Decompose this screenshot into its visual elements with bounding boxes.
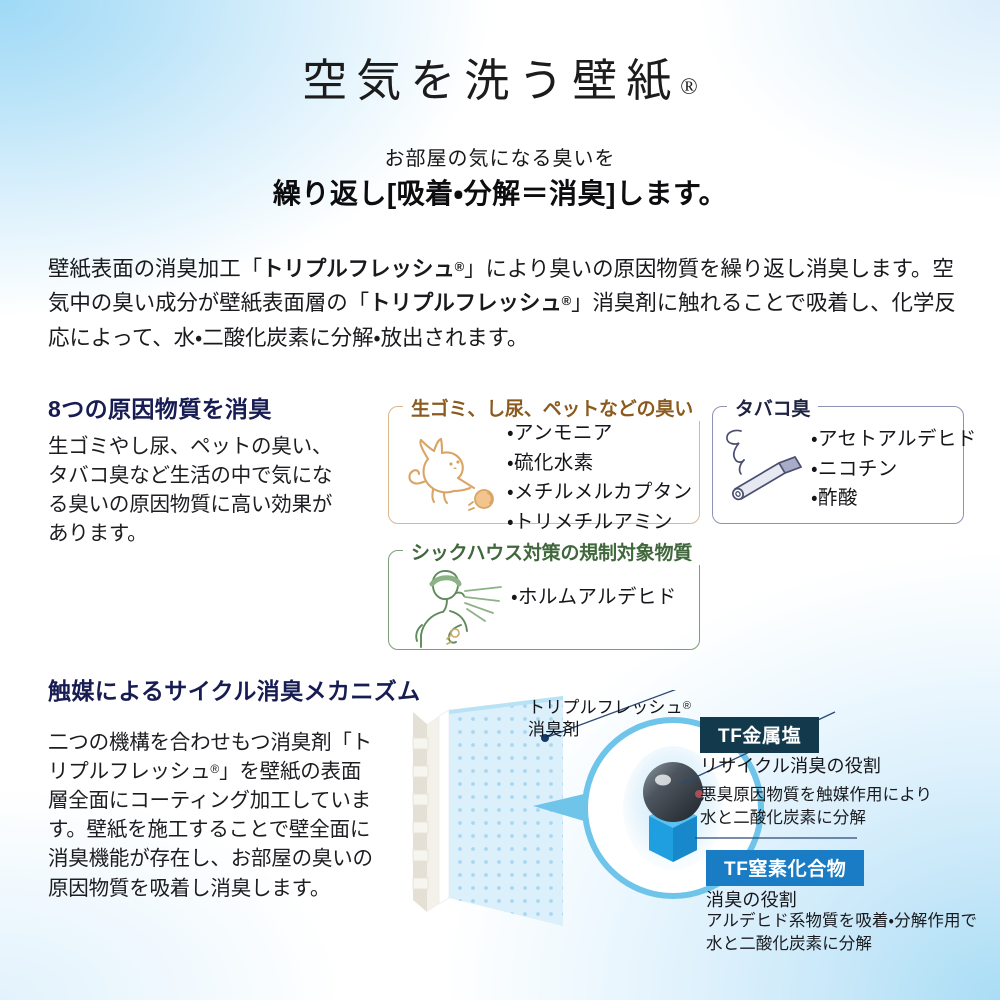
lead-subtitle: お部屋の気になる臭いを	[0, 142, 1000, 171]
tf-metal-salt-role-title: リサイクル消臭の役割	[700, 752, 881, 778]
cigarette-icon	[717, 425, 811, 507]
product-info-page: 空気を洗う壁紙® お部屋の気になる臭いを 繰り返し[吸着・分解＝消臭]します。 …	[0, 0, 1000, 1000]
tf-nitrogen-description: アルデヒド系物質を吸着・分解作用で 水と二酸化炭素に分解	[706, 910, 977, 957]
tf-nitrogen-role-title: 消臭の役割	[706, 886, 797, 912]
tf-nitrogen-line-2: 水と二酸化炭素に分解	[706, 935, 872, 953]
list-item: ・ニコチン	[811, 455, 977, 485]
intro-brand-2-reg-icon: ®	[562, 293, 571, 308]
deodorant-label-line-1: トリプルフレッシュ	[528, 698, 683, 717]
odor-box-kitchen-items: ・アンモニア ・硫化水素 ・メチルメルカプタン ・トリメチルアミン	[507, 419, 693, 538]
page-title: 空気を洗う壁紙®	[0, 44, 1000, 109]
list-item: ・メチルメルカプタン	[507, 478, 693, 508]
odor-section-heading: 8つの原因物質を消臭	[48, 390, 272, 424]
chip-tf-metal-salt: TF金属塩	[700, 717, 819, 753]
list-item: ・ホルムアルデヒド	[511, 583, 677, 613]
odor-box-tobacco: タバコ臭 ・アセトアルデヒド ・ニコチン ・酢酸	[712, 406, 964, 524]
list-item: ・トリメチルアミン	[507, 508, 693, 538]
tf-nitrogen-line-1: アルデヒド系物質を吸着・分解作用で	[706, 912, 977, 930]
chip-tf-nitrogen-compound: TF窒素化合物	[706, 850, 864, 886]
mechanism-body-reg-icon: ®	[210, 762, 219, 776]
deodorant-callout-label: トリプルフレッシュ® 消臭剤	[528, 697, 691, 741]
deodorant-label-line-2: 消臭剤	[528, 720, 580, 739]
odor-box-tobacco-items: ・アセトアルデヒド ・ニコチン ・酢酸	[811, 425, 977, 514]
intro-paragraph: 壁紙表面の消臭加工「トリプルフレッシュ®」により臭いの原因物質を繰り返し消臭しま…	[48, 252, 958, 356]
list-item: ・アセトアルデヒド	[811, 425, 977, 455]
odor-box-sickhouse: シックハウス対策の規制対象物質	[388, 550, 700, 650]
tf-metal-salt-line-1: 悪臭原因物質を触媒作用により	[700, 786, 932, 804]
list-item: ・硫化水素	[507, 449, 693, 479]
cat-icon	[395, 429, 507, 515]
odor-box-sickhouse-legend: シックハウス対策の規制対象物質	[403, 538, 700, 565]
deodorant-label-reg-icon: ®	[683, 700, 691, 712]
intro-segment-1: 壁紙表面の消臭加工「	[48, 257, 262, 281]
tf-metal-salt-line-2: 水と二酸化炭素に分解	[700, 809, 866, 827]
page-title-text: 空気を洗う壁紙	[302, 56, 680, 106]
intro-brand-1-reg-icon: ®	[455, 259, 464, 274]
odor-section-body: 生ゴミやし尿、ペットの臭い、タバコ臭など生活の中で気になる臭いの原因物質に高い効…	[48, 432, 348, 548]
lead-headline: 繰り返し[吸着・分解＝消臭]します。	[0, 172, 1000, 212]
odor-box-sickhouse-items: ・ホルムアルデヒド	[511, 583, 677, 613]
mechanism-section-body: 二つの機構を合わせもつ消臭剤「トリプルフレッシュ®」を壁紙の表面層全面にコーティ…	[48, 728, 378, 903]
mechanism-section-heading: 触媒によるサイクル消臭メカニズム	[48, 672, 421, 706]
list-item: ・酢酸	[811, 484, 977, 514]
odor-box-tobacco-legend: タバコ臭	[727, 394, 818, 421]
coughing-person-icon	[403, 565, 511, 649]
intro-brand-2: トリプルフレッシュ	[369, 291, 562, 315]
intro-brand-1: トリプルフレッシュ	[262, 257, 455, 281]
registered-trademark-icon: ®	[680, 74, 697, 99]
odor-box-kitchen-legend: 生ゴミ、し尿、ペットなどの臭い	[403, 394, 701, 421]
odor-box-kitchen: 生ゴミ、し尿、ペットなどの臭い ・アンモニア ・硫化水素	[388, 406, 700, 524]
list-item: ・アンモニア	[507, 419, 693, 449]
tf-metal-salt-description: 悪臭原因物質を触媒作用により 水と二酸化炭素に分解	[700, 784, 932, 831]
